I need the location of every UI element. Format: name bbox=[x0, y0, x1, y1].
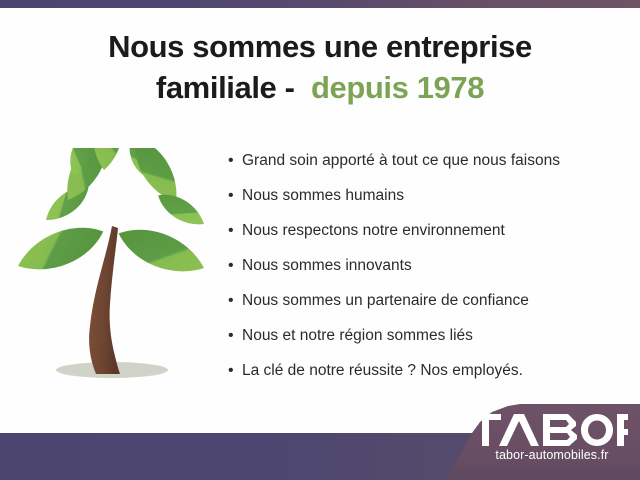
slide-canvas: Nous sommes une entreprise familiale - d… bbox=[0, 0, 640, 480]
tabor-wordmark-icon bbox=[470, 414, 628, 446]
list-item-label: Nous respectons notre environnement bbox=[242, 220, 505, 242]
tree-trunk bbox=[89, 226, 120, 374]
title-line-2: familiale - depuis 1978 bbox=[0, 67, 640, 108]
brand-logo[interactable]: tabor-automobiles.fr bbox=[470, 414, 635, 474]
bullet-marker-icon: • bbox=[228, 220, 242, 242]
list-item-label: Nous sommes un partenaire de confiance bbox=[242, 290, 529, 312]
list-item: • Nous respectons notre environnement bbox=[228, 220, 628, 255]
list-item-label: La clé de notre réussite ? Nos employés. bbox=[242, 360, 523, 382]
bullet-marker-icon: • bbox=[228, 325, 242, 347]
list-item: • La clé de notre réussite ? Nos employé… bbox=[228, 360, 628, 395]
title-line-2-plain: familiale bbox=[156, 70, 276, 105]
bullet-marker-icon: • bbox=[228, 185, 242, 207]
logo-tagline: tabor-automobiles.fr bbox=[472, 448, 632, 462]
benefits-list: • Grand soin apporté à tout ce que nous … bbox=[228, 150, 628, 395]
list-item-label: Grand soin apporté à tout ce que nous fa… bbox=[242, 150, 560, 172]
list-item: • Nous sommes innovants bbox=[228, 255, 628, 290]
bullet-marker-icon: • bbox=[228, 150, 242, 172]
list-item-label: Nous et notre région sommes liés bbox=[242, 325, 473, 347]
page-title: Nous sommes une entreprise familiale - d… bbox=[0, 26, 640, 108]
bullet-marker-icon: • bbox=[228, 290, 242, 312]
list-item: • Nous sommes humains bbox=[228, 185, 628, 220]
list-item: • Nous sommes un partenaire de confiance bbox=[228, 290, 628, 325]
list-item-label: Nous sommes innovants bbox=[242, 255, 412, 277]
title-line-1: Nous sommes une entreprise bbox=[0, 26, 640, 67]
title-accent: depuis 1978 bbox=[311, 70, 484, 105]
bullet-marker-icon: • bbox=[228, 360, 242, 382]
list-item: • Nous et notre région sommes liés bbox=[228, 325, 628, 360]
list-item-label: Nous sommes humains bbox=[242, 185, 404, 207]
list-item: • Grand soin apporté à tout ce que nous … bbox=[228, 150, 628, 185]
bullet-marker-icon: • bbox=[228, 255, 242, 277]
family-tree-illustration bbox=[8, 148, 218, 388]
title-dash: - bbox=[285, 70, 295, 105]
top-accent-bar bbox=[0, 0, 640, 8]
